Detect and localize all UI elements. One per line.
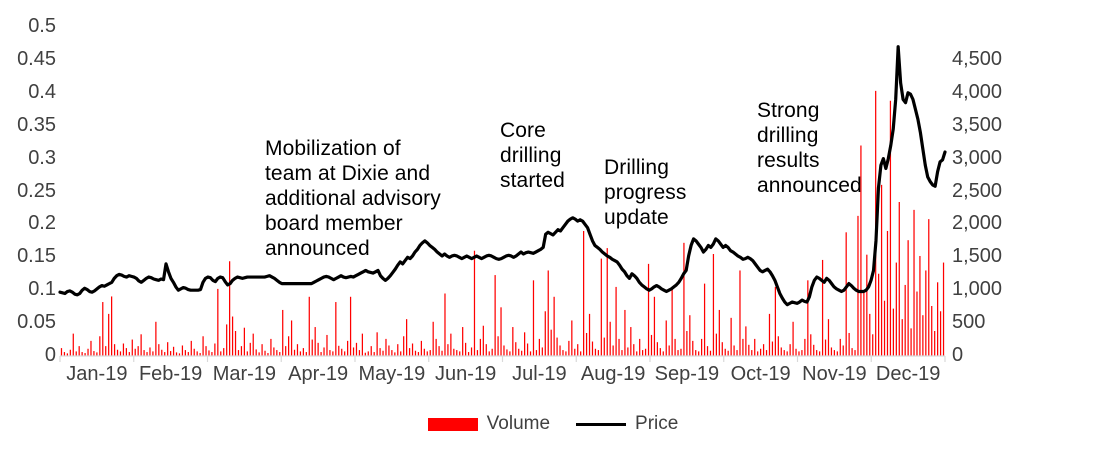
y-axis-left-tick: 0.15 <box>17 246 56 266</box>
chart-annotation: Mobilization of team at Dixie and additi… <box>265 136 441 261</box>
y-axis-right-tick: 2,000 <box>952 213 1002 233</box>
y-axis-right-tick: 500 <box>952 312 985 332</box>
legend-line-swatch-icon <box>576 423 626 426</box>
legend-label: Volume <box>487 413 550 435</box>
y-axis-left-tick: 0.2 <box>28 213 56 233</box>
x-axis-tick-label: Mar-19 <box>213 364 276 384</box>
y-axis-right-tick: 4,500 <box>952 49 1002 69</box>
x-axis-tick-label: Nov-19 <box>802 364 866 384</box>
y-axis-left-tick: 0 <box>45 345 56 365</box>
y-axis-right-tick: 1,500 <box>952 246 1002 266</box>
y-axis-right-tick: 4,000 <box>952 82 1002 102</box>
x-axis-tickmarks <box>60 356 945 362</box>
x-axis-tick-label: Oct-19 <box>731 364 791 384</box>
chart-annotation: Core drilling started <box>500 118 565 193</box>
legend-item[interactable]: Volume <box>428 413 550 435</box>
chart-annotation: Drilling progress update <box>604 155 687 230</box>
y-axis-left-tick: 0.5 <box>28 16 56 36</box>
x-axis-tick-label: May-19 <box>359 364 426 384</box>
legend-item[interactable]: Price <box>576 413 678 435</box>
y-axis-left-tick: 0.05 <box>17 312 56 332</box>
y-axis-left-tick: 0.45 <box>17 49 56 69</box>
y-axis-left-tick: 0.1 <box>28 279 56 299</box>
chart-annotation: Strong drilling results announced <box>757 98 862 198</box>
x-axis-tick-label: Sep-19 <box>655 364 720 384</box>
legend-label: Price <box>635 413 678 435</box>
x-axis-tick-label: Jan-19 <box>66 364 127 384</box>
y-axis-right-tick: 2,500 <box>952 181 1002 201</box>
y-axis-left-tick: 0.4 <box>28 82 56 102</box>
y-axis-right-tick: 3,500 <box>952 115 1002 135</box>
y-axis-right-tick: 3,000 <box>952 148 1002 168</box>
y-axis-left-tick: 0.3 <box>28 148 56 168</box>
x-axis-tick-label: Apr-19 <box>288 364 348 384</box>
x-axis-tick-label: Jul-19 <box>512 364 566 384</box>
chart-legend: VolumePrice <box>0 413 1106 435</box>
stock-price-volume-chart: 00.050.10.150.20.250.30.350.40.450.5 050… <box>0 0 1106 453</box>
x-axis-tick-label: Aug-19 <box>581 364 646 384</box>
y-axis-right-tick: 1,000 <box>952 279 1002 299</box>
y-axis-left-tick: 0.35 <box>17 115 56 135</box>
y-axis-left-tick: 0.25 <box>17 181 56 201</box>
x-axis-tick-label: Feb-19 <box>139 364 202 384</box>
x-axis-tick-label: Dec-19 <box>876 364 940 384</box>
legend-bar-swatch-icon <box>428 418 478 431</box>
y-axis-right-tick: 0 <box>952 345 963 365</box>
x-axis-tick-label: Jun-19 <box>435 364 496 384</box>
